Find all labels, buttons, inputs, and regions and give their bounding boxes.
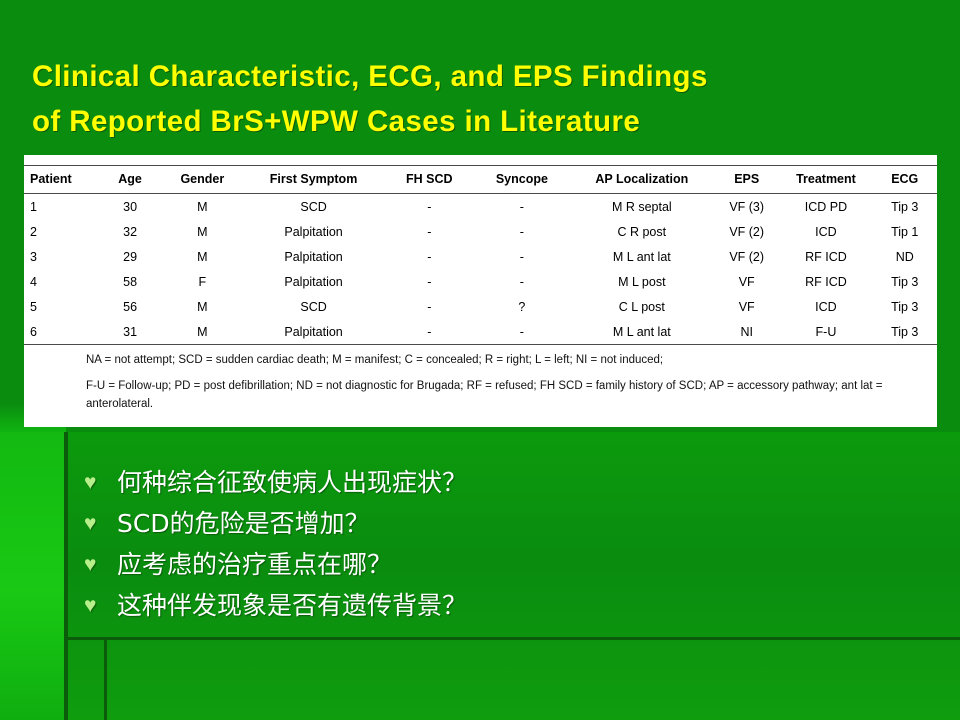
cell-ecg: Tip 3 [872,294,937,319]
cell-ecg: Tip 3 [872,194,937,220]
heart-bullet-icon: ♥ [84,507,117,541]
cell-ap-localization: C R post [570,219,714,244]
cell-fh-scd: - [385,269,475,294]
list-item: ♥ 这种伴发现象是否有遗传背景？ [84,589,864,630]
list-item: ♥ SCD的危险是否增加？ [84,507,864,548]
cell-gender: F [162,269,243,294]
slide-title-line-2: of Reported BrS+WPW Cases in Literature [32,100,932,145]
cell-patient: 1 [24,194,98,220]
cell-eps: VF [714,294,779,319]
cell-treatment: F-U [779,319,872,345]
table-header-row: Patient Age Gender First Symptom FH SCD … [24,166,937,194]
cell-first-symptom: Palpitation [243,319,385,345]
cell-ecg: Tip 1 [872,219,937,244]
cell-syncope: - [474,319,570,345]
table-header-syncope: Syncope [474,166,570,194]
cell-first-symptom: Palpitation [243,269,385,294]
cell-ecg: Tip 3 [872,269,937,294]
cell-fh-scd: - [385,194,475,220]
table-header-first-symptom: First Symptom [243,166,385,194]
cell-ecg: Tip 3 [872,319,937,345]
cell-syncope: ? [474,294,570,319]
table-header-eps: EPS [714,166,779,194]
cell-gender: M [162,319,243,345]
cell-ap-localization: C L post [570,294,714,319]
findings-table: Patient Age Gender First Symptom FH SCD … [24,165,937,345]
cell-eps: NI [714,319,779,345]
question-bullet-list: ♥ 何种综合征致使病人出现症状？ ♥ SCD的危险是否增加？ ♥ 应考虑的治疗重… [84,466,864,630]
cell-treatment: RF ICD [779,269,872,294]
heart-bullet-icon: ♥ [84,548,117,582]
cell-patient: 5 [24,294,98,319]
table-header-fh-scd: FH SCD [385,166,475,194]
cell-patient: 3 [24,244,98,269]
cell-treatment: ICD [779,219,872,244]
cell-syncope: - [474,269,570,294]
cell-patient: 2 [24,219,98,244]
cell-eps: VF (2) [714,219,779,244]
table-footnotes: NA = not attempt; SCD = sudden cardiac d… [86,351,926,421]
cell-fh-scd: - [385,244,475,269]
table-row: 2 32 M Palpitation - - C R post VF (2) I… [24,219,937,244]
table-panel: Patient Age Gender First Symptom FH SCD … [24,155,937,427]
cell-patient: 6 [24,319,98,345]
decorative-horizontal-rule [66,637,960,640]
list-item: ♥ 应考虑的治疗重点在哪？ [84,548,864,589]
list-item-label: 何种综合征致使病人出现症状？ [117,466,467,500]
list-item-label: 应考虑的治疗重点在哪？ [117,548,392,582]
cell-age: 58 [98,269,162,294]
cell-first-symptom: SCD [243,194,385,220]
cell-eps: VF [714,269,779,294]
list-item-label: 这种伴发现象是否有遗传背景？ [117,589,467,623]
slide-title-line-1: Clinical Characteristic, ECG, and EPS Fi… [32,55,932,100]
cell-treatment: ICD PD [779,194,872,220]
cell-treatment: RF ICD [779,244,872,269]
cell-first-symptom: SCD [243,294,385,319]
cell-eps: VF (2) [714,244,779,269]
left-accent-band-lower [0,432,64,720]
slide-title: Clinical Characteristic, ECG, and EPS Fi… [32,55,932,145]
heart-bullet-icon: ♥ [84,466,117,500]
cell-treatment: ICD [779,294,872,319]
decorative-vertical-rule-secondary [104,639,107,720]
list-item-label: SCD的危险是否增加？ [117,507,370,541]
table-row: 5 56 M SCD - ? C L post VF ICD Tip 3 [24,294,937,319]
table-header-ap-localization: AP Localization [570,166,714,194]
cell-age: 56 [98,294,162,319]
table-header-gender: Gender [162,166,243,194]
heart-bullet-icon: ♥ [84,589,117,623]
cell-ap-localization: M R septal [570,194,714,220]
footnote-line-2: F-U = Follow-up; PD = post defibrillatio… [86,377,926,414]
cell-first-symptom: Palpitation [243,244,385,269]
table-row: 4 58 F Palpitation - - M L post VF RF IC… [24,269,937,294]
cell-fh-scd: - [385,219,475,244]
table-header-age: Age [98,166,162,194]
cell-gender: M [162,244,243,269]
cell-fh-scd: - [385,319,475,345]
table-row: 6 31 M Palpitation - - M L ant lat NI F-… [24,319,937,345]
cell-age: 32 [98,219,162,244]
cell-ap-localization: M L post [570,269,714,294]
cell-fh-scd: - [385,294,475,319]
cell-syncope: - [474,244,570,269]
table-row: 3 29 M Palpitation - - M L ant lat VF (2… [24,244,937,269]
cell-gender: M [162,194,243,220]
table-header-treatment: Treatment [779,166,872,194]
cell-age: 29 [98,244,162,269]
decorative-vertical-rule [64,432,68,720]
footnote-line-1: NA = not attempt; SCD = sudden cardiac d… [86,351,926,370]
cell-syncope: - [474,194,570,220]
table-header-ecg: ECG [872,166,937,194]
cell-eps: VF (3) [714,194,779,220]
list-item: ♥ 何种综合征致使病人出现症状？ [84,466,864,507]
slide-canvas: Clinical Characteristic, ECG, and EPS Fi… [0,0,960,720]
cell-ecg: ND [872,244,937,269]
cell-first-symptom: Palpitation [243,219,385,244]
cell-age: 31 [98,319,162,345]
cell-ap-localization: M L ant lat [570,244,714,269]
cell-gender: M [162,219,243,244]
cell-patient: 4 [24,269,98,294]
table-row: 1 30 M SCD - - M R septal VF (3) ICD PD … [24,194,937,220]
cell-gender: M [162,294,243,319]
cell-age: 30 [98,194,162,220]
table-header-patient: Patient [24,166,98,194]
cell-syncope: - [474,219,570,244]
cell-ap-localization: M L ant lat [570,319,714,345]
